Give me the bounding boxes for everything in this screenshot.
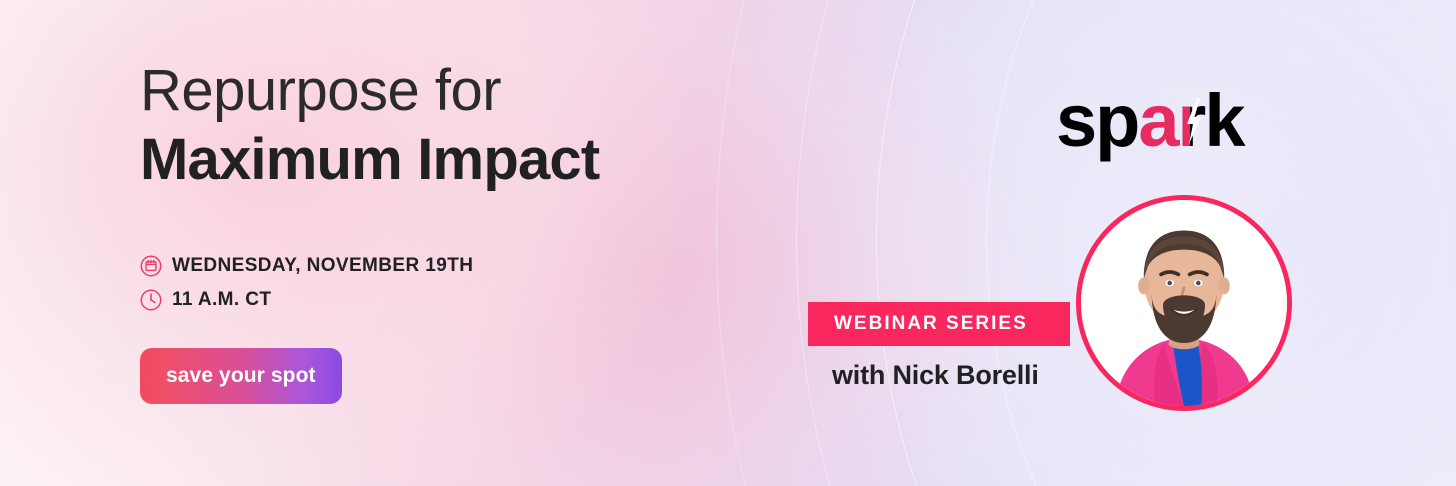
logo-text-r: rr xyxy=(1178,84,1205,158)
speaker-portrait xyxy=(1076,195,1292,411)
background-arc xyxy=(716,0,1456,486)
calendar-icon xyxy=(140,255,162,277)
event-date-text: WEDNESDAY, NOVEMBER 19TH xyxy=(172,255,473,277)
webinar-series-label: WEBINAR SERIES xyxy=(808,313,1028,335)
logo-text-k: k xyxy=(1204,79,1243,162)
webinar-promo-banner: Repurpose for Maximum Impact WEDNESDAY, … xyxy=(0,0,1456,486)
event-time-row: 11 A.M. CT xyxy=(140,289,599,311)
save-your-spot-button[interactable]: save your spot xyxy=(140,348,342,404)
headline-line-2: Maximum Impact xyxy=(140,128,599,193)
spark-logo: sparrk xyxy=(1056,84,1243,158)
headline-line-1: Repurpose for xyxy=(140,62,599,120)
event-date-row: WEDNESDAY, NOVEMBER 19TH xyxy=(140,255,599,277)
speaker-name: with Nick Borelli xyxy=(832,360,1039,391)
logo-r-black: r xyxy=(1178,79,1205,162)
logo-text-a: a xyxy=(1138,79,1177,162)
clock-icon xyxy=(140,289,162,311)
portrait-illustration xyxy=(1081,200,1287,406)
event-details: WEDNESDAY, NOVEMBER 19TH 11 A.M. CT xyxy=(140,255,599,311)
logo-text-sp: sp xyxy=(1056,79,1138,162)
webinar-series-badge: WEBINAR SERIES xyxy=(808,302,1070,346)
banner-left-content: Repurpose for Maximum Impact WEDNESDAY, … xyxy=(140,62,599,404)
event-time-text: 11 A.M. CT xyxy=(172,289,271,311)
